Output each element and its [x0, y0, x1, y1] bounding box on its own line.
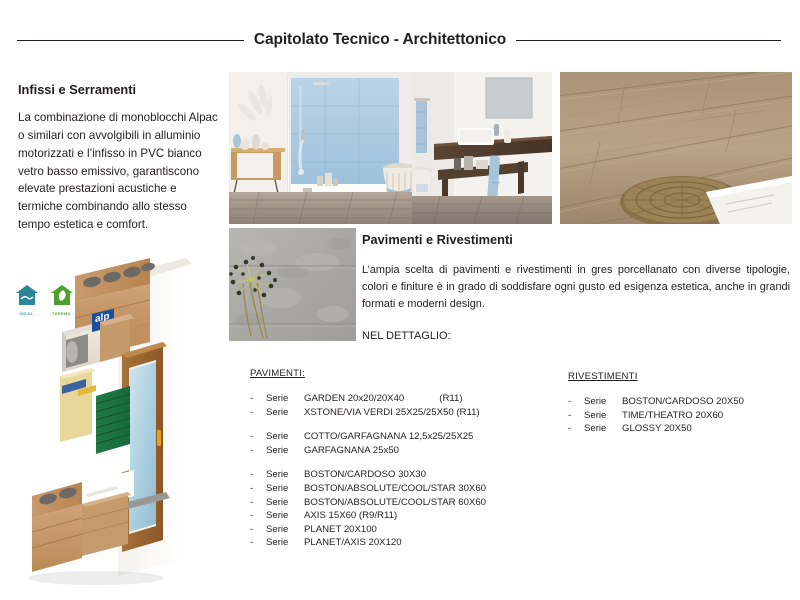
infissi-body: La combinazione di monoblocchi Alpac o s… — [18, 109, 218, 234]
page-header: Capitolato Tecnico - Architettonico — [0, 25, 800, 55]
list-item: -SerieGLOSSY 20X50 — [568, 422, 744, 436]
logo-thermo: THERMO — [49, 284, 74, 316]
pavimenti-heading: Pavimenti e Rivestimenti — [362, 232, 513, 247]
list-item: -SerieBOSTON/ABSOLUTE/COOL/STAR 60X60 — [250, 496, 486, 510]
list-serie-label: Serie — [266, 430, 304, 444]
header-rule-right — [516, 40, 781, 41]
list-dash: - — [568, 395, 584, 409]
list-dash: - — [250, 392, 266, 406]
list-dash: - — [250, 536, 266, 550]
list-product-name: BOSTON/ABSOLUTE/COOL/STAR 60X60 — [304, 496, 486, 510]
list-dash: - — [250, 430, 266, 444]
list-serie-label: Serie — [266, 468, 304, 482]
list-serie-label: Serie — [266, 406, 304, 420]
list-serie-label: Serie — [266, 496, 304, 510]
brick-course-bottom — [32, 482, 131, 572]
pavimenti-list-title: PAVIMENTI: — [250, 368, 486, 379]
document-page: Capitolato Tecnico - Architettonico Infi… — [0, 0, 800, 600]
list-serie-label: Serie — [266, 523, 304, 537]
list-dash: - — [250, 509, 266, 523]
list-serie-label: Serie — [266, 482, 304, 496]
list-product-name: BOSTON/ABSOLUTE/COOL/STAR 30X60 — [304, 482, 486, 496]
photo-grey-tile — [229, 228, 356, 341]
roller-shutter-curtain — [96, 386, 130, 480]
logo-ideal: IDEAL — [14, 284, 39, 316]
list-serie-label: Serie — [266, 509, 304, 523]
logo-thermo-label: THERMO — [49, 312, 74, 316]
photo-wood-floor — [560, 72, 792, 224]
rivestimenti-list-title: RIVESTIMENTI — [568, 371, 744, 382]
page-title: Capitolato Tecnico - Architettonico — [254, 31, 506, 49]
list-product-name: GARFAGNANA 25x50 — [304, 444, 399, 458]
list-item: -SerieBOSTON/CARDOSO 30X30 — [250, 468, 486, 482]
list-serie-label: Serie — [584, 395, 622, 409]
list-dash: - — [250, 496, 266, 510]
list-item: -SerieCOTTO/GARFAGNANA 12,5x25/25X25 — [250, 430, 486, 444]
list-item: -SerieGARFAGNANA 25x50 — [250, 444, 486, 458]
list-product-name: COTTO/GARFAGNANA 12,5x25/25X25 — [304, 430, 473, 444]
list-item: -SerieBOSTON/CARDOSO 20X50 — [568, 395, 744, 409]
pavimenti-list-block: PAVIMENTI: -SerieGARDEN 20x20/20X40(R11)… — [250, 368, 486, 550]
list-serie-label: Serie — [266, 536, 304, 550]
list-dash: - — [250, 523, 266, 537]
rivestimenti-rows: -SerieBOSTON/CARDOSO 20X50-SerieTIME/THE… — [568, 395, 744, 436]
pavimenti-body: L’ampia scelta di pavimenti e rivestimen… — [362, 262, 790, 313]
house-thermo-icon — [50, 284, 74, 306]
photo-bathroom-shower — [229, 72, 412, 224]
list-product-name: TIME/THEATRO 20X60 — [622, 409, 723, 423]
list-dash: - — [250, 444, 266, 458]
list-serie-label: Serie — [266, 392, 304, 406]
list-dash: - — [568, 409, 584, 423]
list-product-name: BOSTON/CARDOSO 20X50 — [622, 395, 744, 409]
list-product-name: PLANET/AXIS 20X120 — [304, 536, 402, 550]
list-dash: - — [250, 468, 266, 482]
list-serie-label: Serie — [584, 422, 622, 436]
list-slip-rating: (R11) — [439, 392, 462, 406]
list-product-name: GARDEN 20x20/20X40 — [304, 392, 404, 406]
list-product-name: XSTONE/VIA VERDI 25X25/25X50 (R11) — [304, 406, 480, 420]
list-item: -SerieXSTONE/VIA VERDI 25X25/25X50 (R11) — [250, 406, 486, 420]
photo-bathroom-vanity — [412, 72, 552, 224]
pavimenti-rows: -SerieGARDEN 20x20/20X40(R11)-SerieXSTON… — [250, 392, 486, 550]
list-product-name: GLOSSY 20X50 — [622, 422, 692, 436]
infissi-heading: Infissi e Serramenti — [18, 82, 218, 97]
list-item: -SerieTIME/THEATRO 20X60 — [568, 409, 744, 423]
list-item: -SerieGARDEN 20x20/20X40(R11) — [250, 392, 486, 406]
list-product-name: BOSTON/CARDOSO 30X30 — [304, 468, 426, 482]
header-rule-left — [17, 40, 244, 41]
list-serie-label: Serie — [584, 409, 622, 423]
insulation-panel — [60, 368, 92, 442]
list-item: -SeriePLANET 20X100 — [250, 523, 486, 537]
house-ideal-icon — [15, 284, 39, 306]
list-dash: - — [250, 406, 266, 420]
list-serie-label: Serie — [266, 444, 304, 458]
logo-ideal-label: IDEAL — [14, 312, 39, 316]
nel-dettaglio-label: NEL DETTAGLIO: — [362, 330, 451, 342]
list-item: -SeriePLANET/AXIS 20X120 — [250, 536, 486, 550]
rivestimenti-list-block: RIVESTIMENTI -SerieBOSTON/CARDOSO 20X50-… — [568, 371, 744, 436]
infissi-section: Infissi e Serramenti La combinazione di … — [18, 82, 218, 234]
list-dash: - — [568, 422, 584, 436]
monoblock-diagram: alp — [0, 258, 225, 588]
window-handle — [157, 430, 161, 446]
certification-logos: IDEAL THERMO — [14, 284, 74, 316]
list-item: -SerieAXIS 15X60 (R9/R11) — [250, 509, 486, 523]
list-item: -SerieBOSTON/ABSOLUTE/COOL/STAR 30X60 — [250, 482, 486, 496]
list-product-name: AXIS 15X60 (R9/R11) — [304, 509, 397, 523]
list-dash: - — [250, 482, 266, 496]
list-product-name: PLANET 20X100 — [304, 523, 377, 537]
